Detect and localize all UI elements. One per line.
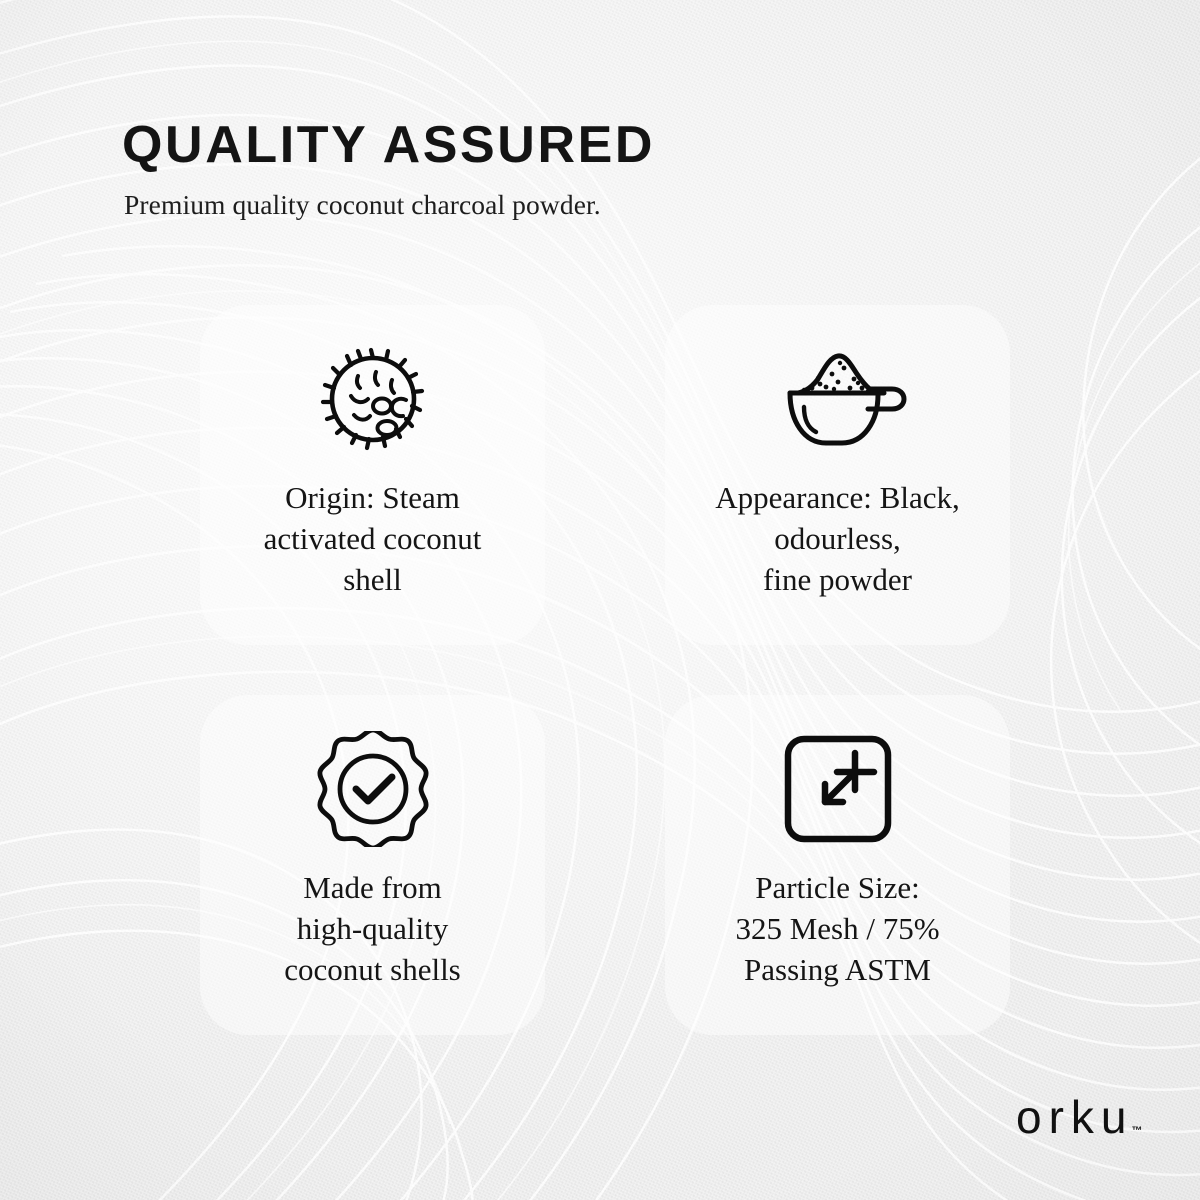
- feature-card-quality: Made from high-quality coconut shells: [200, 695, 545, 1035]
- header: QUALITY ASSURED Premium quality coconut …: [122, 118, 655, 221]
- feature-card-text: Appearance: Black, odourless, fine powde…: [705, 477, 969, 600]
- feature-card-text: Made from high-quality coconut shells: [274, 867, 471, 990]
- page-subtitle: Premium quality coconut charcoal powder.: [124, 189, 655, 221]
- page-title: QUALITY ASSURED: [122, 118, 655, 173]
- feature-card-particle-size: Particle Size: 325 Mesh / 75% Passing AS…: [665, 695, 1010, 1035]
- feature-card-appearance: Appearance: Black, odourless, fine powde…: [665, 305, 1010, 645]
- brand-name: orku: [1016, 1094, 1133, 1140]
- expand-arrows-square-icon: [783, 729, 893, 849]
- feature-card-text: Particle Size: 325 Mesh / 75% Passing AS…: [725, 867, 949, 990]
- feature-card-grid: Origin: Steam activated coconut shell: [200, 305, 1010, 1035]
- feature-card-text: Origin: Steam activated coconut shell: [254, 477, 492, 600]
- measuring-scoop-powder-icon: [768, 339, 908, 459]
- coconut-icon: [314, 339, 432, 459]
- verified-badge-check-icon: [315, 729, 431, 849]
- feature-card-origin: Origin: Steam activated coconut shell: [200, 305, 545, 645]
- brand-logo: orku ™: [1016, 1094, 1143, 1140]
- quality-assured-infographic: QUALITY ASSURED Premium quality coconut …: [0, 0, 1200, 1200]
- trademark-symbol: ™: [1131, 1125, 1143, 1137]
